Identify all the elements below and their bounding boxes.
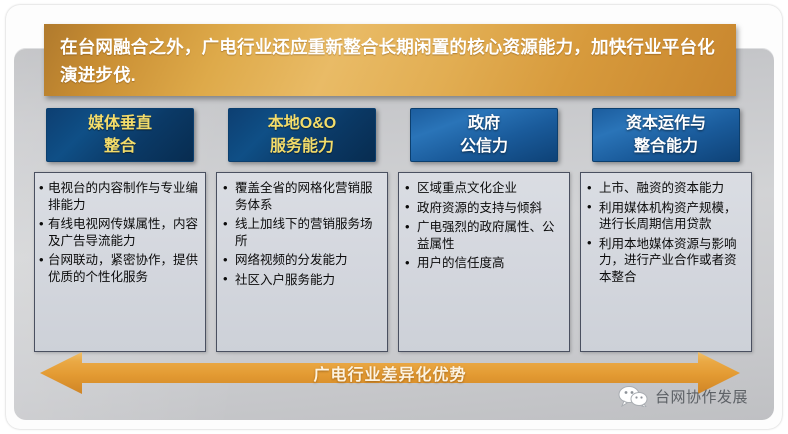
bullet-list-4: 上市、融资的资本能力 利用媒体机构资产规模，进行长周期信用贷款 利用本地媒体资源… bbox=[585, 180, 746, 285]
column-header-1-label: 媒体垂直 整合 bbox=[88, 112, 152, 158]
list-item: 利用本地媒体资源与影响力，进行产业合作或者资本整合 bbox=[585, 236, 746, 286]
wechat-footer: 台网协作发展 bbox=[618, 385, 748, 407]
column-government-credibility: 政府 公信力 区域重点文化企业 政府资源的支持与倾斜 广电强烈的政府属性、公益属… bbox=[398, 108, 570, 352]
column-header-3-label: 政府 公信力 bbox=[460, 112, 508, 158]
column-header-3[interactable]: 政府 公信力 bbox=[410, 108, 558, 162]
column-header-4-label: 资本运作与 整合能力 bbox=[626, 112, 706, 158]
wechat-icon bbox=[618, 385, 648, 407]
list-item: 台网联动，紧密协作，提供优质的个性化服务 bbox=[39, 252, 200, 285]
bullet-list-1: 电视台的内容制作与专业编排能力 有线电视网传媒属性，内容及广告导流能力 台网联动… bbox=[39, 180, 200, 285]
column-header-4[interactable]: 资本运作与 整合能力 bbox=[592, 108, 740, 162]
column-header-1[interactable]: 媒体垂直 整合 bbox=[46, 108, 194, 162]
list-item: 用户的信任度高 bbox=[403, 255, 564, 272]
bullet-list-3: 区域重点文化企业 政府资源的支持与倾斜 广电强烈的政府属性、公益属性 用户的信任… bbox=[403, 180, 564, 272]
column-header-2[interactable]: 本地O&O 服务能力 bbox=[228, 108, 376, 162]
column-body-1: 电视台的内容制作与专业编排能力 有线电视网传媒属性，内容及广告导流能力 台网联动… bbox=[34, 172, 206, 352]
title-banner: 在台网融合之外，广电行业还应重新整合长期闲置的核心资源能力，加快行业平台化演进步… bbox=[44, 24, 736, 96]
slide-canvas: 在台网融合之外，广电行业还应重新整合长期闲置的核心资源能力，加快行业平台化演进步… bbox=[0, 0, 788, 434]
list-item: 覆盖全省的网格化营销服务体系 bbox=[221, 180, 382, 213]
column-body-2: 覆盖全省的网格化营销服务体系 线上加线下的营销服务场所 网络视频的分发能力 社区… bbox=[216, 172, 388, 352]
list-item: 网络视频的分发能力 bbox=[221, 252, 382, 269]
title-banner-text: 在台网融合之外，广电行业还应重新整合长期闲置的核心资源能力，加快行业平台化演进步… bbox=[60, 33, 720, 89]
column-local-oo-service: 本地O&O 服务能力 覆盖全省的网格化营销服务体系 线上加线下的营销服务场所 网… bbox=[216, 108, 388, 352]
list-item: 广电强烈的政府属性、公益属性 bbox=[403, 219, 564, 252]
list-item: 政府资源的支持与倾斜 bbox=[403, 200, 564, 217]
column-media-vertical-integration: 媒体垂直 整合 电视台的内容制作与专业编排能力 有线电视网传媒属性，内容及广告导… bbox=[34, 108, 206, 352]
list-item: 上市、融资的资本能力 bbox=[585, 180, 746, 197]
list-item: 有线电视网传媒属性，内容及广告导流能力 bbox=[39, 216, 200, 249]
list-item: 区域重点文化企业 bbox=[403, 180, 564, 197]
column-body-3: 区域重点文化企业 政府资源的支持与倾斜 广电强烈的政府属性、公益属性 用户的信任… bbox=[398, 172, 570, 352]
list-item: 线上加线下的营销服务场所 bbox=[221, 216, 382, 249]
columns-container: 媒体垂直 整合 电视台的内容制作与专业编排能力 有线电视网传媒属性，内容及广告导… bbox=[34, 108, 756, 352]
list-item: 社区入户服务能力 bbox=[221, 272, 382, 289]
list-item: 利用媒体机构资产规模，进行长周期信用贷款 bbox=[585, 200, 746, 233]
list-item: 电视台的内容制作与专业编排能力 bbox=[39, 180, 200, 213]
column-header-2-label: 本地O&O 服务能力 bbox=[268, 112, 336, 158]
wechat-account-name: 台网协作发展 bbox=[655, 386, 748, 407]
column-body-4: 上市、融资的资本能力 利用媒体机构资产规模，进行长周期信用贷款 利用本地媒体资源… bbox=[580, 172, 752, 352]
bullet-list-2: 覆盖全省的网格化营销服务体系 线上加线下的营销服务场所 网络视频的分发能力 社区… bbox=[221, 180, 382, 288]
column-capital-operation: 资本运作与 整合能力 上市、融资的资本能力 利用媒体机构资产规模，进行长周期信用… bbox=[580, 108, 752, 352]
